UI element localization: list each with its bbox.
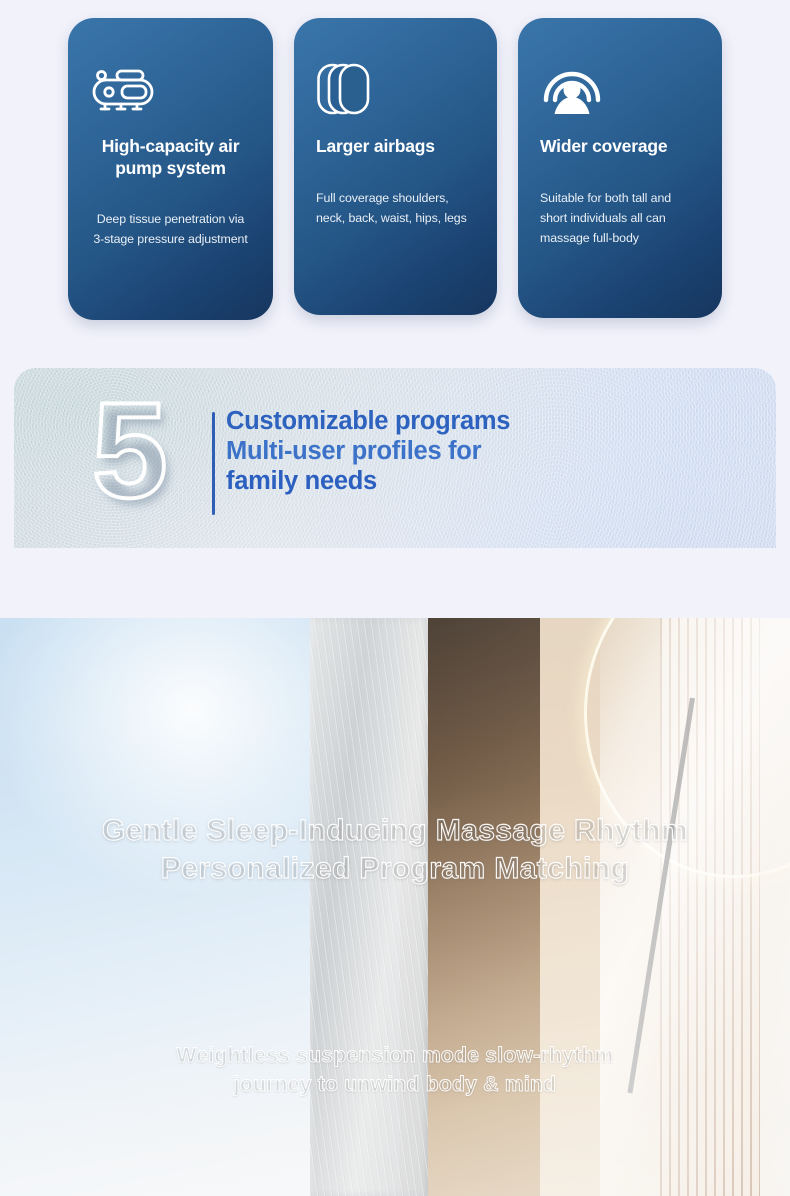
air-pump-icon — [90, 58, 251, 122]
feature-card-title: Wider coverage — [540, 136, 700, 158]
hero-title-line1: Gentle Sleep-Inducing Massage Rhythm — [102, 814, 688, 847]
programs-banner-section: 5 Customizable programs Multi-user profi… — [0, 358, 790, 620]
feature-card-description: Deep tissue penetration via 3-stage pres… — [90, 209, 251, 249]
feature-card-description: Full coverage shoulders, neck, back, wai… — [316, 188, 475, 228]
banner-number-five: 5 — [92, 382, 166, 518]
banner-headline: Customizable programs Multi-user profile… — [226, 406, 656, 496]
hero-subtitle-line2: journey to unwind body & mind — [234, 1073, 557, 1096]
banner-headline-line2: Multi-user profiles for — [226, 436, 656, 466]
hero-photo-section — [0, 618, 790, 1196]
banner-wave-divider — [0, 548, 790, 620]
feature-card-wider-coverage[interactable]: Wider coverage Suitable for both tall an… — [518, 18, 722, 318]
feature-cards-row: High-capacity air pump system Deep tissu… — [0, 0, 790, 350]
hero-subtitle-line1: Weightless suspension mode slow-rhythm — [177, 1044, 614, 1067]
photo-light-veil — [0, 618, 790, 1196]
wider-coverage-icon — [540, 58, 700, 122]
feature-card-description: Suitable for both tall and short individ… — [540, 188, 700, 248]
airbags-icon — [316, 58, 475, 122]
feature-card-title: High-capacity air pump system — [90, 136, 251, 179]
feature-card-title: Larger airbags — [316, 136, 475, 158]
banner-headline-line1: Customizable programs — [226, 406, 656, 436]
hero-title: Gentle Sleep-Inducing Massage Rhythm Per… — [0, 812, 790, 889]
feature-card-air-pump[interactable]: High-capacity air pump system Deep tissu… — [68, 18, 273, 320]
hero-subtitle: Weightless suspension mode slow-rhythm j… — [0, 1042, 790, 1100]
feature-card-airbags[interactable]: Larger airbags Full coverage shoulders, … — [294, 18, 497, 315]
banner-vertical-divider — [212, 412, 215, 515]
hero-title-line2: Personalized Program Matching — [161, 852, 629, 885]
banner-headline-line3: family needs — [226, 466, 656, 496]
